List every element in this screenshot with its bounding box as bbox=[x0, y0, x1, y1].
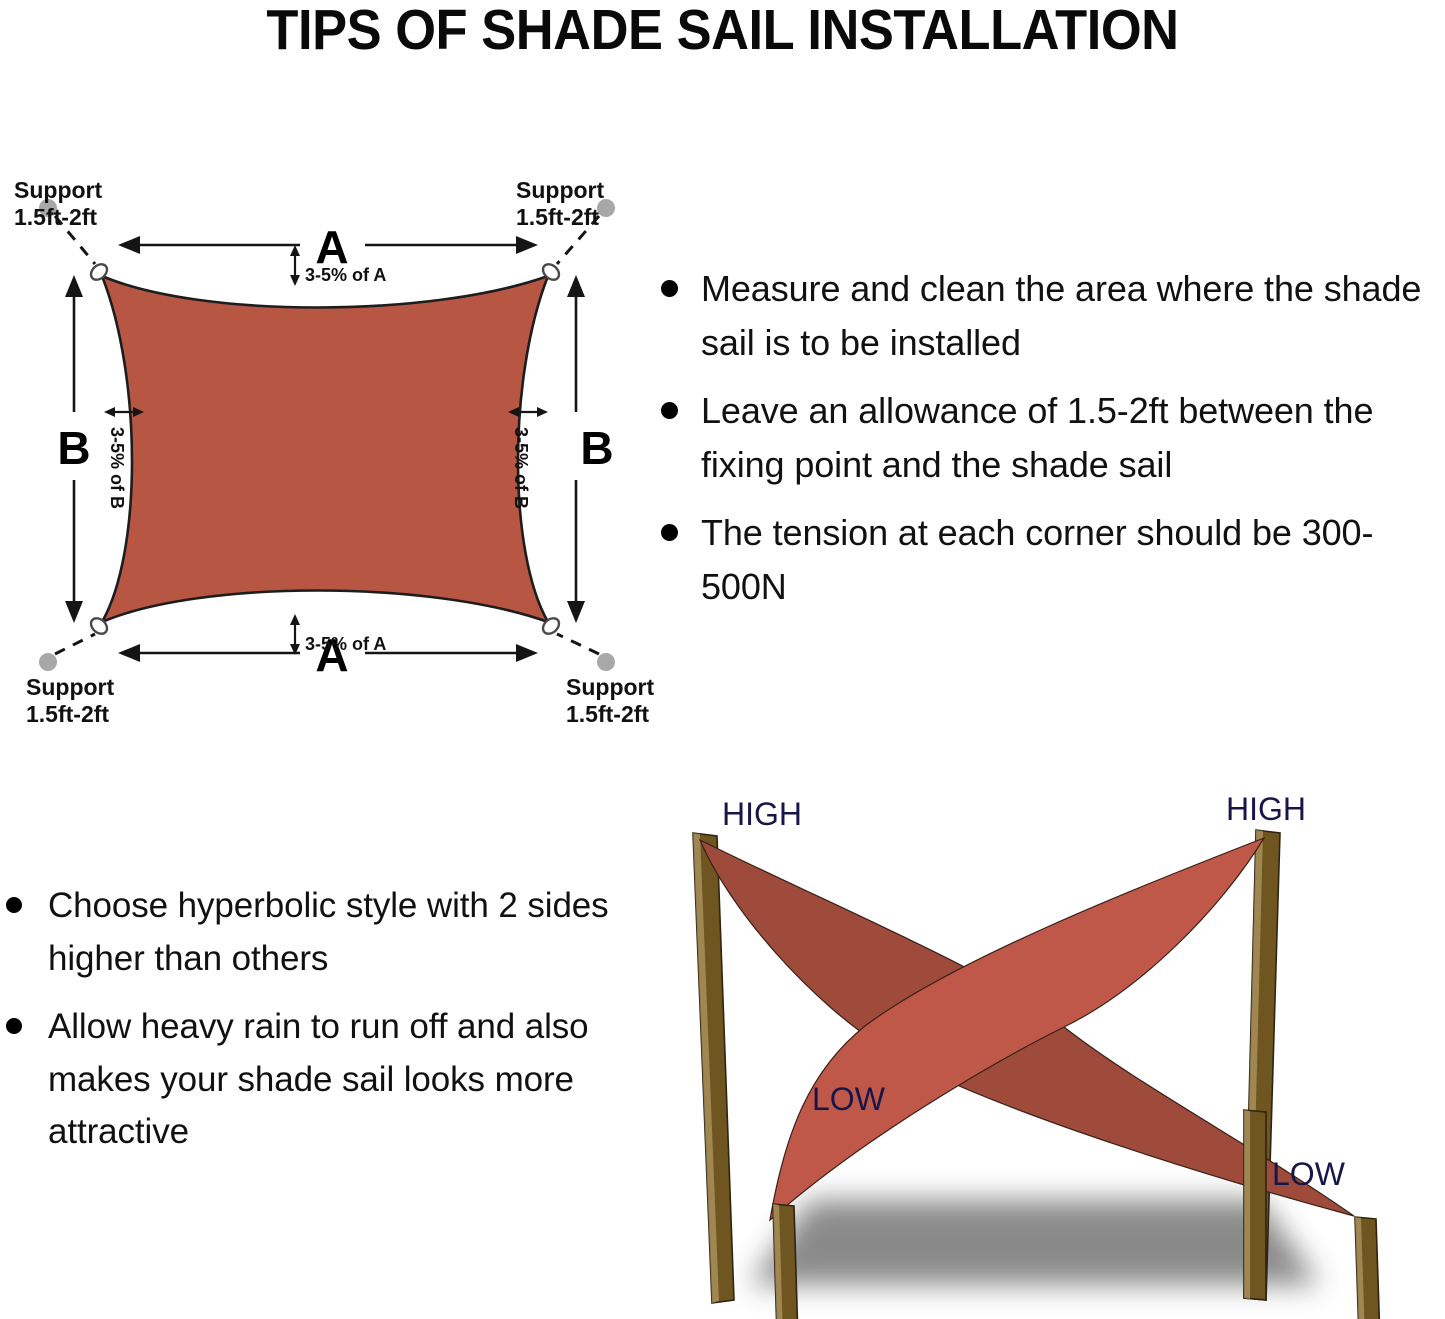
ground-shadow bbox=[750, 1200, 1320, 1285]
curve-label-top: 3-5% of A bbox=[305, 265, 386, 285]
pole-high-right-foreground bbox=[1244, 1110, 1266, 1300]
support-label-bottom-left-line2: 1.5ft-2ft bbox=[26, 701, 109, 727]
list-item: Choose hyperbolic style with 2 sides hig… bbox=[0, 880, 640, 985]
list-item: The tension at each corner should be 300… bbox=[645, 506, 1445, 614]
support-label-top-left-line1: Support bbox=[14, 177, 102, 203]
support-label-bottom-right-line2: 1.5ft-2ft bbox=[566, 701, 649, 727]
tether-bottom-left bbox=[55, 634, 95, 654]
list-item-text: Leave an allowance of 1.5-2ft between th… bbox=[701, 390, 1373, 485]
dimension-label-b-left: B bbox=[57, 422, 90, 474]
support-label-bottom-right-line1: Support bbox=[566, 674, 654, 700]
support-label-top-right-line2: 1.5ft-2ft bbox=[516, 204, 599, 230]
curve-label-left: 3-5% of B bbox=[107, 427, 127, 509]
support-label-bottom-left-line1: Support bbox=[26, 674, 114, 700]
list-item-text: Allow heavy rain to run off and also mak… bbox=[48, 1007, 589, 1151]
rectangular-sail-diagram: A A B B 3-5% of A 3-5% of A 3-5% of B 3-… bbox=[0, 150, 660, 750]
curve-label-bottom: 3-5% of A bbox=[305, 634, 386, 654]
support-dot-bottom-right bbox=[597, 653, 615, 671]
support-label-top-left-line2: 1.5ft-2ft bbox=[14, 204, 97, 230]
list-item: Allow heavy rain to run off and also mak… bbox=[0, 1001, 640, 1159]
label-high-left: HIGH bbox=[722, 796, 802, 832]
list-item-text: Choose hyperbolic style with 2 sides hig… bbox=[48, 886, 609, 978]
support-dot-bottom-left bbox=[39, 653, 57, 671]
shade-sail-shape bbox=[102, 276, 548, 622]
bullet-dot-icon bbox=[6, 1018, 22, 1034]
bullet-dot-icon bbox=[661, 280, 678, 297]
label-high-right: HIGH bbox=[1226, 791, 1306, 827]
bullet-dot-icon bbox=[6, 897, 22, 913]
tether-bottom-right bbox=[557, 634, 599, 654]
hyperbolic-tips-list: Choose hyperbolic style with 2 sides hig… bbox=[0, 880, 640, 1159]
list-item-text: The tension at each corner should be 300… bbox=[701, 512, 1373, 607]
label-low-right: LOW bbox=[1272, 1156, 1346, 1192]
hyperbolic-sail-diagram: HIGH HIGH LOW LOW bbox=[660, 780, 1445, 1319]
installation-tips-panel: Measure and clean the area where the sha… bbox=[645, 262, 1445, 672]
pole-low-right bbox=[1355, 1217, 1382, 1319]
curve-label-right: 3-5% of B bbox=[511, 427, 531, 509]
list-item: Measure and clean the area where the sha… bbox=[645, 262, 1445, 370]
installation-tips-list: Measure and clean the area where the sha… bbox=[645, 262, 1445, 614]
pole-high-left bbox=[693, 833, 734, 1303]
support-label-top-right-line1: Support bbox=[516, 177, 604, 203]
list-item: Leave an allowance of 1.5-2ft between th… bbox=[645, 384, 1445, 492]
page-title: TIPS OF SHADE SAIL INSTALLATION bbox=[58, 0, 1387, 62]
dimension-label-b-right: B bbox=[580, 422, 613, 474]
hyperbolic-tips-panel: Choose hyperbolic style with 2 sides hig… bbox=[0, 880, 640, 1220]
list-item-text: Measure and clean the area where the sha… bbox=[701, 268, 1421, 363]
bullet-dot-icon bbox=[661, 524, 678, 541]
label-low-left: LOW bbox=[812, 1081, 886, 1117]
bullet-dot-icon bbox=[661, 402, 678, 419]
